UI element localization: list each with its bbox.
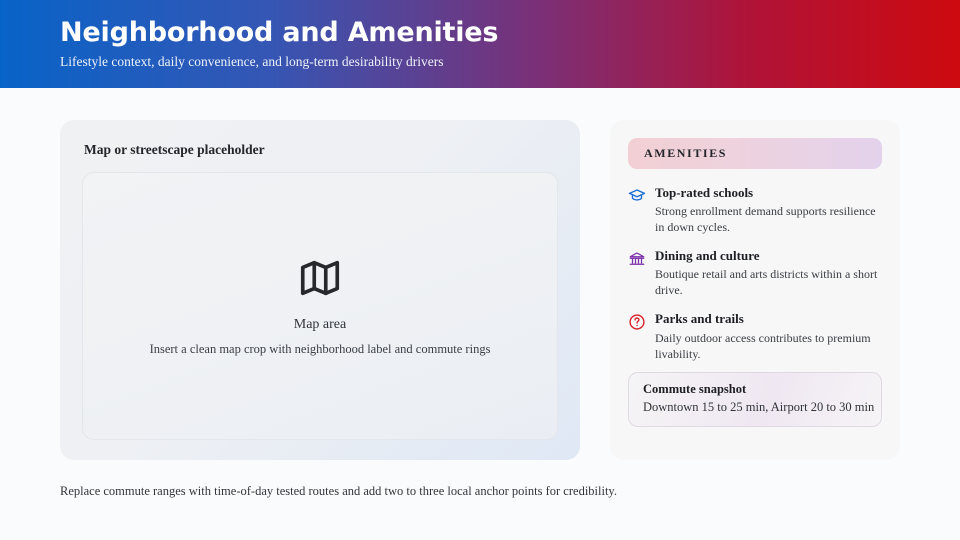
amenity-title: Parks and trails: [655, 311, 882, 327]
map-card-title: Map or streetscape placeholder: [84, 142, 558, 158]
amenities-card: AMENITIES Top-rated schools Strong enrol…: [610, 120, 900, 460]
question-circle-icon: [628, 313, 646, 331]
graduation-cap-icon: [628, 187, 646, 205]
commute-snapshot-title: Commute snapshot: [643, 382, 869, 397]
page-subtitle: Lifestyle context, daily convenience, an…: [60, 54, 960, 70]
bank-building-icon: [628, 250, 646, 268]
amenities-badge: AMENITIES: [628, 138, 882, 169]
page-title: Neighborhood and Amenities: [60, 17, 960, 48]
footer-note: Replace commute ranges with time-of-day …: [60, 484, 617, 499]
amenity-body: Dining and culture Boutique retail and a…: [655, 248, 882, 299]
list-item: Dining and culture Boutique retail and a…: [628, 248, 882, 299]
amenities-badge-label: AMENITIES: [644, 146, 727, 161]
map-area-label: Map area: [294, 317, 346, 333]
page-header: Neighborhood and Amenities Lifestyle con…: [0, 0, 960, 88]
content-stage: Map or streetscape placeholder Map area …: [0, 88, 960, 540]
amenity-description: Boutique retail and arts districts withi…: [655, 267, 882, 299]
commute-snapshot-detail: Downtown 15 to 25 min, Airport 20 to 30 …: [643, 400, 869, 415]
amenity-description: Strong enrollment demand supports resili…: [655, 204, 882, 236]
map-area-hint: Insert a clean map crop with neighborhoo…: [150, 342, 491, 357]
amenity-title: Top-rated schools: [655, 185, 882, 201]
amenity-body: Top-rated schools Strong enrollment dema…: [655, 185, 882, 236]
amenity-title: Dining and culture: [655, 248, 882, 264]
commute-snapshot-box: Commute snapshot Downtown 15 to 25 min, …: [628, 372, 882, 427]
amenity-description: Daily outdoor access contributes to prem…: [655, 331, 882, 363]
list-item: Parks and trails Daily outdoor access co…: [628, 311, 882, 362]
map-placeholder-card: Map or streetscape placeholder Map area …: [60, 120, 580, 460]
amenity-body: Parks and trails Daily outdoor access co…: [655, 311, 882, 362]
list-item: Top-rated schools Strong enrollment dema…: [628, 185, 882, 236]
map-icon: [297, 255, 343, 301]
map-drop-area[interactable]: Map area Insert a clean map crop with ne…: [82, 172, 558, 440]
